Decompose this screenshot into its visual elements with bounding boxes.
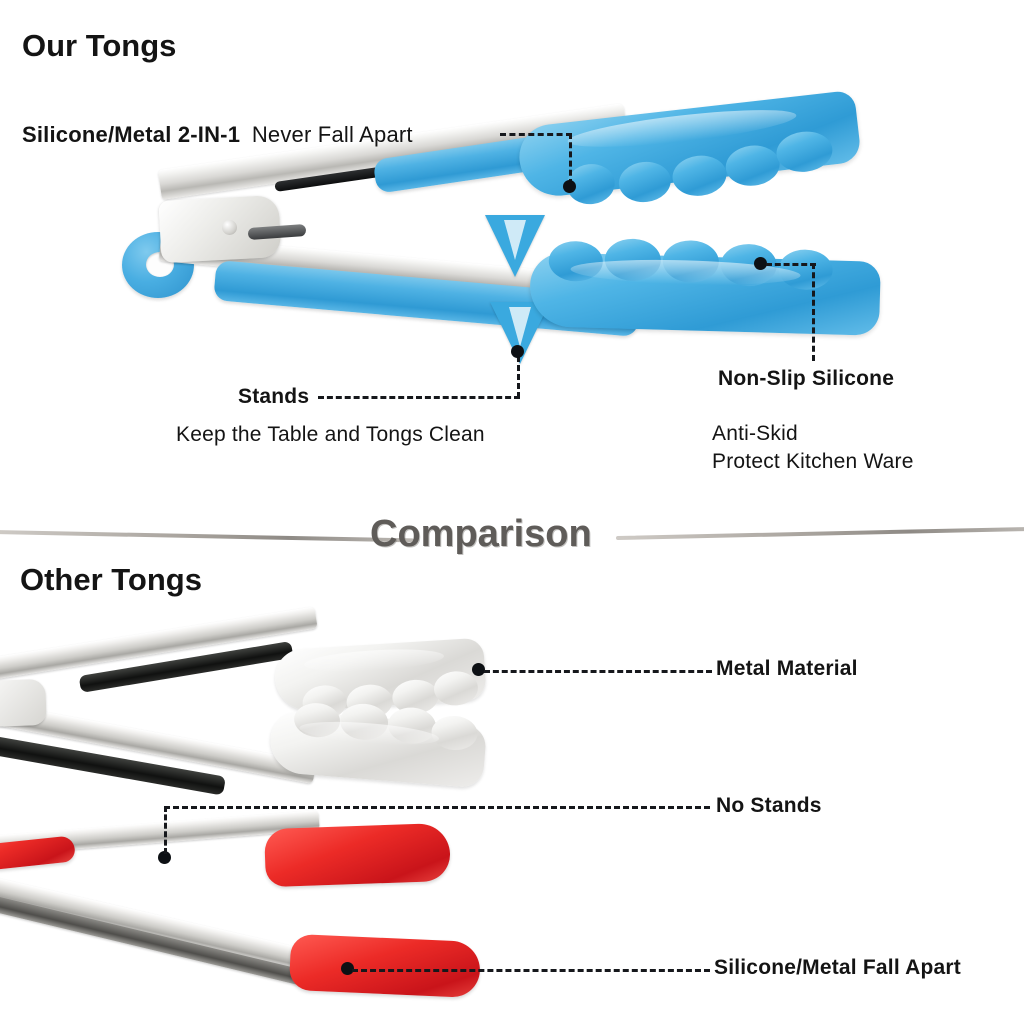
leader-dot-stands <box>511 345 524 358</box>
leader-line-non-slip-v <box>812 263 815 361</box>
leader-line-no-stands-v <box>164 806 167 854</box>
comparison-label: Comparison <box>370 513 592 556</box>
callout-stands-bold: Stands <box>238 385 309 409</box>
divider-rule-left <box>0 530 414 542</box>
steel-hinge <box>0 679 47 727</box>
other-tongs-heading: Other Tongs <box>20 562 202 598</box>
leader-line-non-slip-h <box>766 263 816 266</box>
callout-non-slip-sub-1: Anti-Skid <box>712 422 798 446</box>
leader-line-metal-material <box>484 670 712 673</box>
our-tongs-product-image <box>100 110 910 370</box>
stand-upper-cutout <box>504 220 526 260</box>
red-silicone-tip-left <box>0 835 76 874</box>
red-silicone-tip-upper <box>264 823 451 887</box>
other-tongs-steel-image <box>0 630 510 800</box>
callout-fall-apart: Silicone/Metal Fall Apart <box>714 956 961 980</box>
callout-silicone-metal-regular: Never Fall Apart <box>252 122 413 147</box>
callout-non-slip-sub-2: Protect Kitchen Ware <box>712 450 914 474</box>
callout-no-stands: No Stands <box>716 794 822 818</box>
leader-dot-silicone-metal <box>563 180 576 193</box>
tong-head-lower-blue <box>529 252 881 336</box>
leader-line-fall-apart <box>352 969 710 972</box>
divider-rule-right <box>616 527 1024 540</box>
red-silicone-tip-lower <box>289 934 481 998</box>
steel-head-upper <box>273 638 486 713</box>
leader-line-no-stands-h <box>164 806 710 809</box>
callout-silicone-metal-bold: Silicone/Metal 2-IN-1 <box>22 122 240 147</box>
callout-stands-sub: Keep the Table and Tongs Clean <box>176 423 485 447</box>
leader-line-silicone-metal-v <box>569 133 572 185</box>
callout-metal-material: Metal Material <box>716 657 858 681</box>
leader-line-stands-v <box>517 356 520 398</box>
hinge-dark-insert <box>248 224 307 240</box>
leader-line-stands-h <box>318 396 520 399</box>
infographic-page: Our Tongs <box>0 0 1024 1024</box>
stand-lower-cutout <box>509 307 531 347</box>
callout-silicone-metal: Silicone/Metal 2-IN-1 Never Fall Apart <box>22 122 413 148</box>
other-tongs-red-image <box>0 810 520 1020</box>
our-tongs-heading: Our Tongs <box>22 28 176 64</box>
leader-line-silicone-metal-h <box>500 133 572 136</box>
callout-non-slip-bold: Non-Slip Silicone <box>718 367 894 391</box>
hinge-rivet <box>222 220 237 235</box>
